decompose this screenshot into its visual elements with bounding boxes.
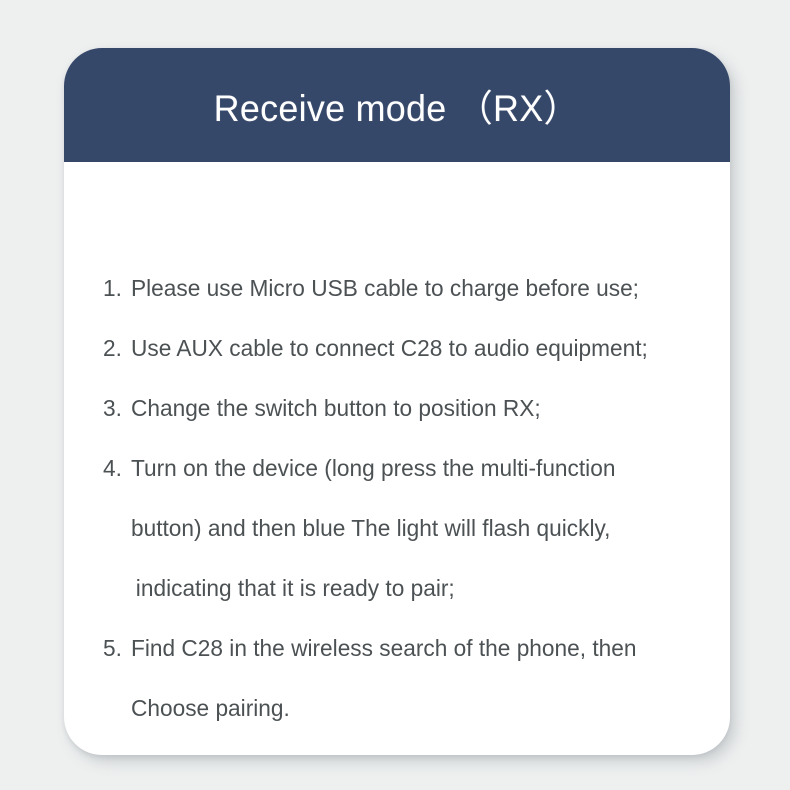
instruction-step: 1.Please use Micro USB cable to charge b… xyxy=(103,258,698,318)
step-number: 2. xyxy=(103,318,131,378)
page-root: Receive mode （RX） 1.Please use Micro USB… xyxy=(0,0,790,790)
instruction-step: 3.Change the switch button to position R… xyxy=(103,378,698,438)
page-title: Receive mode （RX） xyxy=(214,78,580,132)
instruction-step-continuation: 4.indicating that it is ready to pair; xyxy=(103,558,698,618)
instruction-step-continuation: 5.Choose pairing. xyxy=(103,678,698,738)
instruction-card: Receive mode （RX） 1.Please use Micro USB… xyxy=(64,48,730,755)
step-text: Turn on the device (long press the multi… xyxy=(131,438,615,498)
step-text: Change the switch button to position RX; xyxy=(131,378,541,438)
step-number: 4. xyxy=(103,438,131,498)
card-header: Receive mode （RX） xyxy=(64,48,730,162)
step-text: Please use Micro USB cable to charge bef… xyxy=(131,258,639,318)
instruction-step: 4.Turn on the device (long press the mul… xyxy=(103,438,698,498)
step-number: 5. xyxy=(103,618,131,678)
instruction-step-continuation: 4.button) and then blue The light will f… xyxy=(103,498,698,558)
step-text: indicating that it is ready to pair; xyxy=(131,558,455,618)
step-text: Use AUX cable to connect C28 to audio eq… xyxy=(131,318,648,378)
step-number: 3. xyxy=(103,378,131,438)
step-text: button) and then blue The light will fla… xyxy=(131,498,610,558)
instruction-step-list: 1.Please use Micro USB cable to charge b… xyxy=(103,258,720,738)
step-text: Find C28 in the wireless search of the p… xyxy=(131,618,637,678)
step-number: 1. xyxy=(103,258,131,318)
instruction-step: 5.Find C28 in the wireless search of the… xyxy=(103,618,698,678)
card-body: 1.Please use Micro USB cable to charge b… xyxy=(64,162,730,755)
instruction-step: 2.Use AUX cable to connect C28 to audio … xyxy=(103,318,698,378)
step-text: Choose pairing. xyxy=(131,678,290,738)
